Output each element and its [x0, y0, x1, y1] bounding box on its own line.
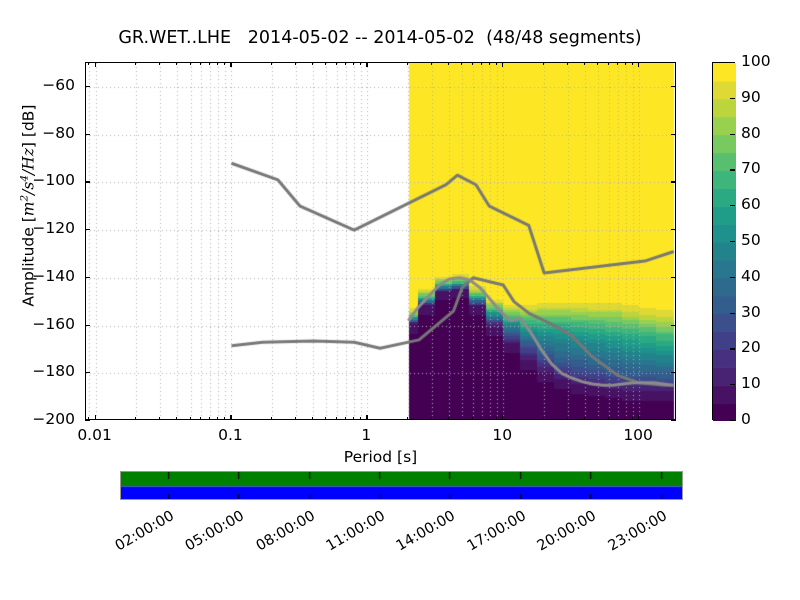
- colorbar-tick-mark: [730, 420, 735, 421]
- x-tick-minor: [345, 417, 346, 420]
- x-tick-minor: [217, 417, 218, 420]
- x-tick-minor-top: [584, 62, 585, 65]
- x-tick-minor-top: [481, 62, 482, 65]
- x-tick-mark-top: [638, 62, 639, 67]
- x-tick-minor: [543, 417, 544, 420]
- x-tick-minor-top: [312, 62, 313, 65]
- x-tick-label: 0.01: [55, 426, 135, 444]
- x-tick-label: 100: [598, 426, 678, 444]
- x-tick-minor-top: [360, 62, 361, 65]
- x-tick-label: 1: [326, 426, 406, 444]
- x-tick-minor-top: [632, 62, 633, 65]
- y-tick-mark: [85, 134, 90, 135]
- colorbar-tick-label: 70: [741, 159, 761, 177]
- y-tick-mark: [85, 325, 90, 326]
- x-tick-mark: [638, 415, 639, 420]
- x-tick-minor-top: [336, 62, 337, 65]
- x-tick-minor: [224, 417, 225, 420]
- y-tick-mark: [85, 277, 90, 278]
- colorbar-tick-mark: [730, 277, 735, 278]
- time-tick-label: 14:00:00: [378, 508, 459, 564]
- colorbar-tick-label: 80: [741, 124, 761, 142]
- y-tick-mark-right: [671, 277, 676, 278]
- x-tick-minor: [336, 417, 337, 420]
- x-tick-minor: [625, 417, 626, 420]
- x-tick-minor: [176, 417, 177, 420]
- x-axis-label: Period [s]: [85, 448, 676, 466]
- x-tick-minor: [448, 417, 449, 420]
- x-tick-minor-top: [431, 62, 432, 65]
- x-tick-minor: [496, 417, 497, 420]
- y-tick-mark: [85, 229, 90, 230]
- x-tick-minor-top: [489, 62, 490, 65]
- colorbar-tick-mark: [730, 62, 735, 63]
- x-tick-minor-top: [448, 62, 449, 65]
- x-tick-minor-top: [209, 62, 210, 65]
- colorbar-tick-label: 100: [741, 52, 771, 70]
- x-tick-minor: [135, 417, 136, 420]
- x-tick-minor: [295, 417, 296, 420]
- x-tick-minor: [608, 417, 609, 420]
- x-tick-minor-top: [159, 62, 160, 65]
- y-tick-mark-right: [671, 372, 676, 373]
- x-tick-minor: [88, 417, 89, 420]
- colorbar-tick-label: 0: [741, 410, 751, 428]
- y-tick-mark: [85, 181, 90, 182]
- y-tick-mark-right: [671, 134, 676, 135]
- y-axis-units: m2/s4/Hz: [20, 148, 38, 216]
- x-tick-minor-top: [224, 62, 225, 65]
- x-tick-minor-top: [295, 62, 296, 65]
- x-tick-minor: [489, 417, 490, 420]
- x-tick-minor: [312, 417, 313, 420]
- x-tick-minor: [190, 417, 191, 420]
- colorbar-tick-label: 90: [741, 88, 761, 106]
- page-title: GR.WET..LHE 2014-05-02 -- 2014-05-02 (48…: [0, 28, 760, 48]
- x-tick-minor: [407, 417, 408, 420]
- x-tick-label: 0.1: [190, 426, 270, 444]
- noise-model-curves: [86, 63, 676, 420]
- colorbar-tick-mark: [730, 348, 735, 349]
- x-tick-minor: [360, 417, 361, 420]
- time-tick-label: 02:00:00: [96, 508, 177, 564]
- x-tick-mark-top: [230, 62, 231, 67]
- x-tick-minor: [584, 417, 585, 420]
- x-tick-minor-top: [617, 62, 618, 65]
- coverage-bands: [121, 472, 683, 500]
- y-tick-mark-right: [671, 420, 676, 421]
- x-tick-mark: [95, 415, 96, 420]
- x-tick-minor-top: [407, 62, 408, 65]
- x-tick-minor-top: [200, 62, 201, 65]
- x-tick-minor: [472, 417, 473, 420]
- x-tick-mark-top: [95, 62, 96, 67]
- x-tick-minor-top: [543, 62, 544, 65]
- y-tick-mark-right: [671, 181, 676, 182]
- x-tick-mark: [366, 415, 367, 420]
- x-tick-minor-top: [597, 62, 598, 65]
- ppsd-plot-area: [85, 62, 676, 420]
- x-tick-minor-top: [88, 62, 89, 65]
- x-tick-minor: [159, 417, 160, 420]
- colorbar-tick-mark: [730, 169, 735, 170]
- data-coverage-bar: [120, 471, 683, 500]
- x-tick-mark: [230, 415, 231, 420]
- y-tick-mark: [85, 420, 90, 421]
- x-tick-minor-top: [190, 62, 191, 65]
- x-tick-mark: [502, 415, 503, 420]
- colorbar-tick-mark: [730, 98, 735, 99]
- x-tick-minor: [597, 417, 598, 420]
- y-tick-mark-right: [671, 229, 676, 230]
- colorbar-tick-label: 40: [741, 267, 761, 285]
- colorbar-tick-mark: [730, 134, 735, 135]
- time-tick-label: 05:00:00: [167, 508, 248, 564]
- x-tick-minor-top: [271, 62, 272, 65]
- x-tick-minor: [200, 417, 201, 420]
- colorbar-tick-label: 50: [741, 231, 761, 249]
- colorbar-tick-label: 30: [741, 303, 761, 321]
- x-tick-mark-top: [502, 62, 503, 67]
- y-axis-label: Amplitude [m2/s4/Hz] [dB]: [18, 26, 37, 386]
- x-tick-minor: [353, 417, 354, 420]
- x-tick-minor-top: [217, 62, 218, 65]
- x-tick-minor: [617, 417, 618, 420]
- x-tick-minor-top: [135, 62, 136, 65]
- x-tick-minor-top: [176, 62, 177, 65]
- x-tick-minor: [209, 417, 210, 420]
- time-tick-label: 20:00:00: [518, 508, 599, 564]
- x-tick-minor: [271, 417, 272, 420]
- colorbar-tick-mark: [730, 241, 735, 242]
- x-tick-label: 10: [462, 426, 542, 444]
- x-tick-minor-top: [325, 62, 326, 65]
- y-tick-mark-right: [671, 86, 676, 87]
- x-tick-minor-top: [496, 62, 497, 65]
- colorbar-tick-mark: [730, 384, 735, 385]
- y-tick-mark-right: [671, 325, 676, 326]
- x-tick-mark-top: [366, 62, 367, 67]
- x-tick-minor-top: [345, 62, 346, 65]
- time-tick-label: 11:00:00: [307, 508, 388, 564]
- x-tick-minor: [481, 417, 482, 420]
- y-tick-mark: [85, 86, 90, 87]
- time-tick-label: 08:00:00: [237, 508, 318, 564]
- colorbar-tick-label: 10: [741, 374, 761, 392]
- colorbar-tick-mark: [730, 313, 735, 314]
- x-tick-minor-top: [472, 62, 473, 65]
- x-tick-minor: [567, 417, 568, 420]
- x-tick-minor-top: [567, 62, 568, 65]
- x-tick-minor: [325, 417, 326, 420]
- x-tick-minor: [431, 417, 432, 420]
- x-tick-minor: [632, 417, 633, 420]
- y-tick-mark: [85, 372, 90, 373]
- colorbar-tick-label: 60: [741, 195, 761, 213]
- time-tick-label: 23:00:00: [589, 508, 670, 564]
- x-tick-minor-top: [353, 62, 354, 65]
- x-tick-minor: [461, 417, 462, 420]
- x-tick-minor-top: [625, 62, 626, 65]
- colorbar-tick-mark: [730, 205, 735, 206]
- time-tick-label: 17:00:00: [448, 508, 529, 564]
- colorbar-tick-label: 20: [741, 338, 761, 356]
- x-tick-minor-top: [461, 62, 462, 65]
- x-tick-minor-top: [608, 62, 609, 65]
